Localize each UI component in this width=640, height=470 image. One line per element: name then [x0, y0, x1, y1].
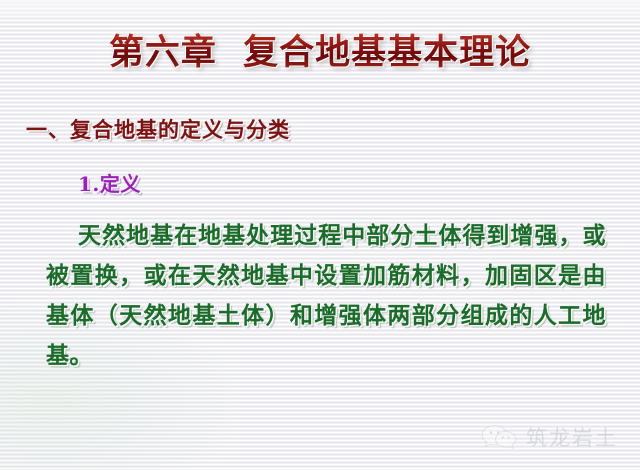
section-heading-level1: 一、复合地基的定义与分类 — [26, 115, 290, 145]
section-heading-level2: 1.定义 — [78, 170, 141, 198]
slide-title: 第六章 复合地基基本理论 — [0, 30, 640, 75]
definition-paragraph: 天然地基在地基处理过程中部分土体得到增强，或被置换，或在天然地基中设置加筋材料，… — [46, 216, 606, 376]
presentation-slide: 第六章 复合地基基本理论 一、复合地基的定义与分类 1.定义 天然地基在地基处理… — [0, 0, 640, 470]
slide-content: 第六章 复合地基基本理论 一、复合地基的定义与分类 1.定义 天然地基在地基处理… — [0, 0, 640, 470]
